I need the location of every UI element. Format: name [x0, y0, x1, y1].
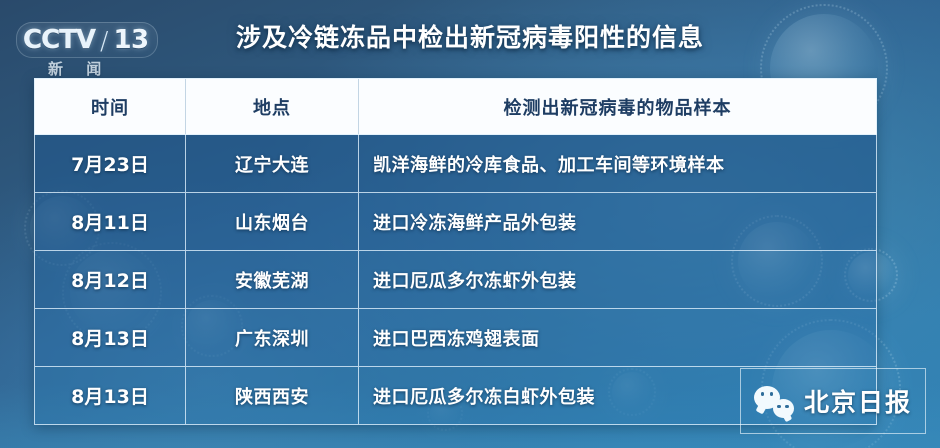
table-header-cell-sample: 检测出新冠病毒的物品样本 — [359, 79, 876, 134]
table-cell-time: 8月13日 — [35, 309, 186, 366]
cell-value-place: 陕西西安 — [235, 383, 309, 409]
broadcast-graphic-screen: CCTV / 13 新 闻 涉及冷链冻品中检出新冠病毒阳性的信息 时间 地点 检… — [0, 0, 940, 448]
table-cell-place: 广东深圳 — [186, 309, 359, 366]
table-cell-time: 8月11日 — [35, 193, 186, 250]
cell-value-sample: 进口厄瓜多尔冻白虾外包装 — [373, 383, 595, 409]
table-cell-time: 8月13日 — [35, 367, 186, 424]
cell-value-place: 广东深圳 — [235, 325, 309, 351]
cell-value-place: 辽宁大连 — [235, 151, 309, 177]
table-header-label: 时间 — [91, 94, 129, 120]
cell-value-time: 8月12日 — [71, 266, 149, 293]
table-cell-place: 山东烟台 — [186, 193, 359, 250]
cell-value-time: 8月11日 — [71, 208, 149, 235]
cell-value-time: 7月23日 — [71, 150, 149, 177]
cell-value-sample: 凯洋海鲜的冷库食品、加工车间等环境样本 — [373, 151, 725, 177]
table-cell-sample: 进口厄瓜多尔冻虾外包装 — [359, 251, 876, 308]
cell-value-sample: 进口冷冻海鲜产品外包装 — [373, 209, 577, 235]
table-row: 7月23日 辽宁大连 凯洋海鲜的冷库食品、加工车间等环境样本 — [34, 135, 877, 193]
table-header-row: 时间 地点 检测出新冠病毒的物品样本 — [34, 78, 877, 135]
table-header-cell-time: 时间 — [35, 79, 186, 134]
table-header-label: 检测出新冠病毒的物品样本 — [504, 94, 732, 120]
table-header-cell-place: 地点 — [186, 79, 359, 134]
cell-value-time: 8月13日 — [71, 324, 149, 351]
wechat-icon — [754, 384, 794, 418]
table-row: 8月12日 安徽芜湖 进口厄瓜多尔冻虾外包装 — [34, 251, 877, 309]
page-title: 涉及冷链冻品中检出新冠病毒阳性的信息 — [0, 18, 940, 54]
cell-value-place: 山东烟台 — [235, 209, 309, 235]
table-cell-place: 安徽芜湖 — [186, 251, 359, 308]
cell-value-sample: 进口巴西冻鸡翅表面 — [373, 325, 540, 351]
table-cell-sample: 进口冷冻海鲜产品外包装 — [359, 193, 876, 250]
cell-value-place: 安徽芜湖 — [235, 267, 309, 293]
table-cell-place: 辽宁大连 — [186, 135, 359, 192]
cell-value-sample: 进口厄瓜多尔冻虾外包装 — [373, 267, 577, 293]
publisher-watermark: 北京日报 — [740, 368, 926, 434]
table-cell-time: 8月12日 — [35, 251, 186, 308]
table-cell-sample: 进口巴西冻鸡翅表面 — [359, 309, 876, 366]
watermark-label: 北京日报 — [804, 383, 912, 419]
table-cell-sample: 凯洋海鲜的冷库食品、加工车间等环境样本 — [359, 135, 876, 192]
cell-value-time: 8月13日 — [71, 382, 149, 409]
cctv-logo-subtitle: 新 闻 — [48, 58, 110, 79]
table-row: 8月11日 山东烟台 进口冷冻海鲜产品外包装 — [34, 193, 877, 251]
table-cell-time: 7月23日 — [35, 135, 186, 192]
table-row: 8月13日 广东深圳 进口巴西冻鸡翅表面 — [34, 309, 877, 367]
table-header-label: 地点 — [253, 94, 291, 120]
table-cell-place: 陕西西安 — [186, 367, 359, 424]
